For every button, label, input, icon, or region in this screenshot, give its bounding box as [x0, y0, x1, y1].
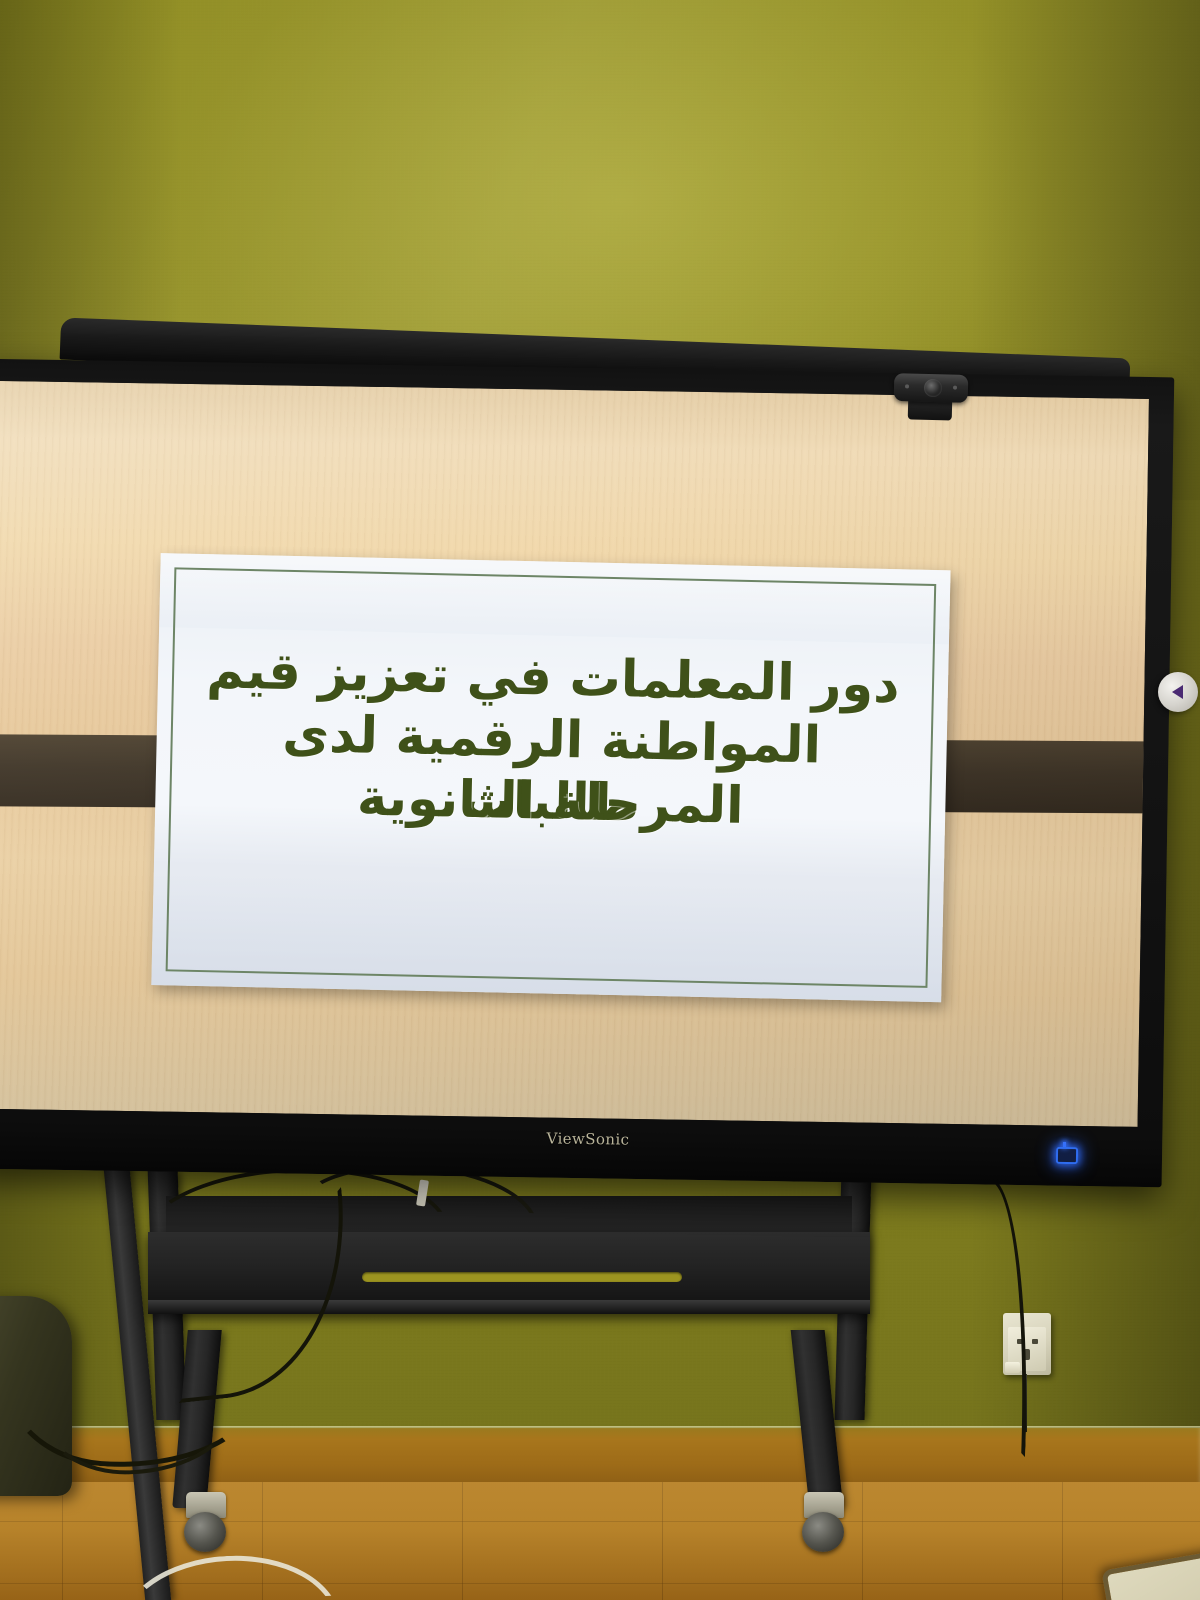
display-brand-label: ViewSonic — [528, 1129, 648, 1149]
slide-title-card: دور المعلمات في تعزيز قيم المواطنة الرقم… — [151, 553, 950, 1002]
caster-wheel — [802, 1512, 844, 1552]
stand-caster-left — [178, 1492, 234, 1552]
stand-shelf-cable-slot — [362, 1272, 682, 1282]
webcam-mic-dot — [905, 384, 909, 388]
side-control-knob[interactable] — [1158, 672, 1198, 712]
webcam-mic-dot — [953, 386, 957, 390]
webcam-icon[interactable] — [894, 373, 969, 403]
classroom-photo-scene: دور المعلمات في تعزيز قيم المواطنة الرقم… — [0, 0, 1200, 1600]
socket-pin-hole — [1032, 1339, 1038, 1344]
display-screen[interactable]: دور المعلمات في تعزيز قيم المواطنة الرقم… — [0, 381, 1149, 1127]
caster-wheel — [184, 1512, 226, 1552]
webcam-lens — [924, 379, 942, 397]
power-led-indicator[interactable] — [1056, 1147, 1078, 1164]
stand-caster-right — [796, 1492, 852, 1552]
interactive-flat-panel-display[interactable]: دور المعلمات في تعزيز قيم المواطنة الرقم… — [0, 359, 1174, 1188]
